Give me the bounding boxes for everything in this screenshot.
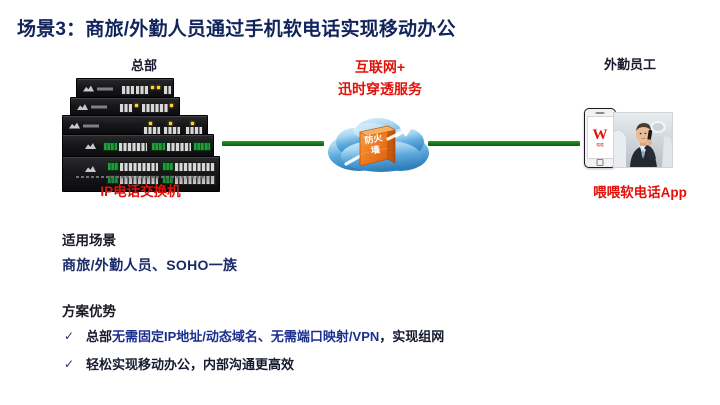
server-device-2 <box>70 97 180 117</box>
vendor-logo-icon <box>85 166 96 172</box>
field-employee-caption: 外勤员工 <box>580 54 680 73</box>
port-block <box>174 162 216 172</box>
vendor-logo-icon <box>85 143 96 149</box>
server-device-3 <box>62 115 208 136</box>
port-block <box>141 103 169 113</box>
check-icon: ✓ <box>62 356 86 373</box>
bullet-segment: ，实现组网 <box>379 329 444 344</box>
green-port-block <box>107 162 119 171</box>
app-logo-icon: W <box>593 128 608 142</box>
stack-base-line <box>76 176 206 178</box>
connector-cloud-to-phone <box>428 141 580 146</box>
list-item: ✓ 轻松实现移动办公，内部沟通更高效 <box>62 356 682 373</box>
scene-heading: 适用场景 <box>62 229 116 249</box>
ip-pbx-label: IP电话交换机 <box>78 180 203 200</box>
check-icon: ✓ <box>62 328 86 345</box>
status-led <box>170 104 173 107</box>
vendor-logo-icon <box>69 123 80 129</box>
slide-canvas: 场景3：商旅/外勤人员通过手机软电话实现移动办公 总部 <box>0 0 720 405</box>
phone-screen: W 喂喂 <box>587 116 614 159</box>
port-block <box>135 85 149 95</box>
smartphone-image: W 喂喂 <box>584 108 616 168</box>
green-port-block <box>103 142 118 151</box>
businessman-photo <box>613 112 673 168</box>
status-led <box>135 104 138 107</box>
status-led <box>157 86 160 89</box>
svg-text:墙: 墙 <box>370 143 381 155</box>
bullet-segment: 总部 <box>86 329 112 344</box>
status-led <box>149 122 152 125</box>
port-block <box>119 103 133 113</box>
page-title: 场景3：商旅/外勤人员通过手机软电话实现移动办公 <box>17 14 456 41</box>
status-led <box>191 122 194 125</box>
vendor-brand-mark <box>83 124 99 127</box>
bullet-text-1: 总部无需固定IP地址/动态域名、无需端口映射/VPN，实现组网 <box>86 328 444 345</box>
advantage-heading: 方案优势 <box>62 300 116 320</box>
port-block <box>119 162 159 172</box>
advantage-bullet-list: ✓ 总部无需固定IP地址/动态域名、无需端口映射/VPN，实现组网 ✓ 轻松实现… <box>62 328 682 384</box>
green-port-block <box>162 162 174 171</box>
app-logo-text: 喂喂 <box>596 143 604 148</box>
vendor-logo-icon <box>83 86 94 92</box>
cloud-icon: 防火 墙 <box>326 112 436 174</box>
softphone-app-label: 喂喂软电话App <box>570 181 710 201</box>
bullet-text-2: 轻松实现移动办公，内部沟通更高效 <box>86 356 294 373</box>
status-led <box>169 122 172 125</box>
internet-label-line1: 互联网+ <box>320 57 440 77</box>
ip-pbx-stack-image <box>62 78 218 178</box>
hq-caption: 总部 <box>104 55 184 74</box>
phone-speaker <box>596 112 605 114</box>
scene-text: 商旅/外勤人员、SOHO一族 <box>62 255 237 275</box>
list-item: ✓ 总部无需固定IP地址/动态域名、无需端口映射/VPN，实现组网 <box>62 328 682 345</box>
connector-hq-to-cloud <box>222 141 324 146</box>
bullet-segment: 无需固定IP地址/动态域名、无需端口映射/VPN <box>112 329 379 344</box>
green-port-block <box>193 142 211 151</box>
internet-service-label: 互联网+ 迅时穿透服务 <box>320 57 440 99</box>
server-device-4 <box>62 134 214 158</box>
port-block <box>163 85 172 95</box>
status-led <box>151 86 154 89</box>
internet-label-line2: 迅时穿透服务 <box>320 79 440 99</box>
bullet-segment: 轻松实现移动办公，内部沟通更高效 <box>86 357 294 372</box>
vendor-brand-mark <box>91 106 107 109</box>
server-device-1 <box>76 78 174 99</box>
phone-home-button <box>597 159 604 166</box>
port-block <box>118 142 148 152</box>
port-block <box>121 85 135 95</box>
vendor-logo-icon <box>77 104 88 110</box>
vendor-brand-mark <box>97 87 113 90</box>
port-block <box>166 142 192 152</box>
green-port-block <box>151 142 166 151</box>
